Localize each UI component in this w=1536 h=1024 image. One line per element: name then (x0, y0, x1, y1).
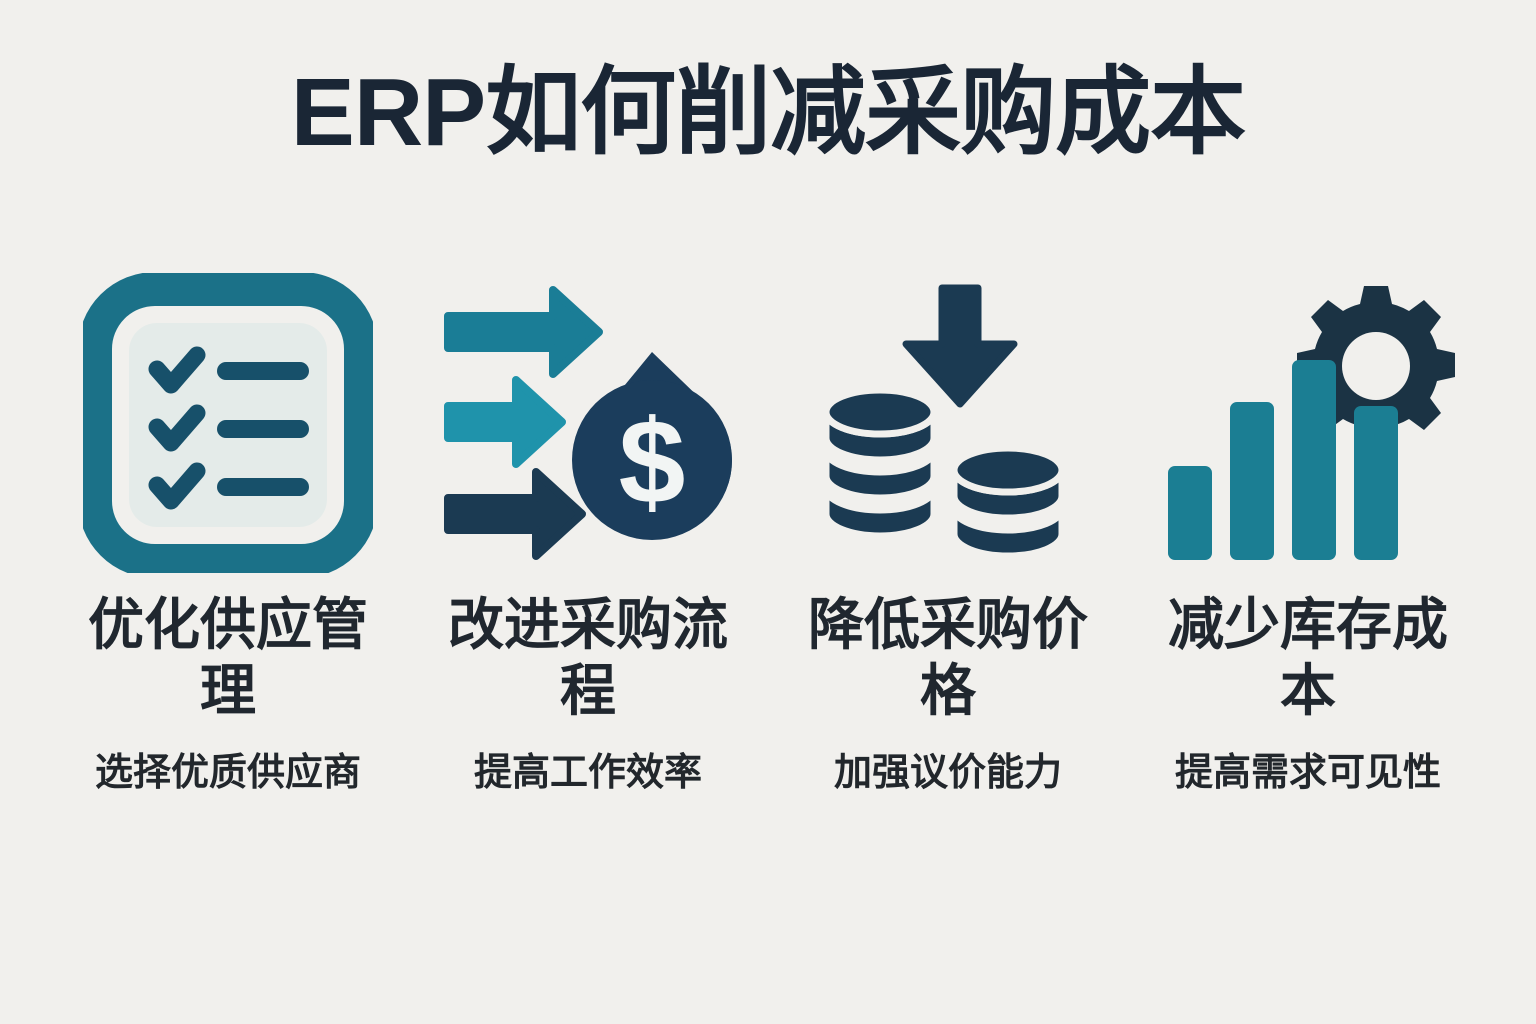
benefit-heading-2: 改进采购流程 (438, 592, 738, 724)
bar-chart-gear-icon (1143, 262, 1473, 584)
coins-down-arrow-icon-svg (808, 278, 1088, 568)
page-title: ERP如何削减采购成本 (0, 58, 1536, 168)
benefit-columns: 优化供应管理 选择优质供应商 $ 改进采购流程 提 (52, 262, 1484, 796)
coins-down-arrow-icon (783, 262, 1113, 584)
benefit-heading-3: 降低采购价格 (798, 592, 1098, 724)
benefit-subtitle-2: 提高工作效率 (474, 750, 702, 796)
infographic-page: ERP如何削减采购成本 优化供应管理 选择优质供应商 (0, 0, 1536, 1024)
benefit-heading-1: 优化供应管理 (78, 592, 378, 724)
bar-chart-gear-icon-svg (1158, 278, 1458, 568)
svg-text:$: $ (619, 395, 686, 529)
benefit-column-3: 降低采购价格 加强议价能力 (772, 262, 1124, 796)
checklist-icon-svg (83, 273, 373, 573)
benefit-subtitle-4: 提高需求可见性 (1175, 750, 1441, 796)
checklist-icon (63, 262, 393, 584)
benefit-column-1: 优化供应管理 选择优质供应商 (52, 262, 404, 796)
benefit-subtitle-3: 加强议价能力 (834, 750, 1062, 796)
arrows-to-money-icon-svg: $ (438, 278, 738, 568)
benefit-column-4: 减少库存成本 提高需求可见性 (1132, 262, 1484, 796)
benefit-heading-4: 减少库存成本 (1158, 592, 1458, 724)
arrows-to-money-icon: $ (423, 262, 753, 584)
benefit-subtitle-1: 选择优质供应商 (95, 750, 361, 796)
benefit-column-2: $ 改进采购流程 提高工作效率 (412, 262, 764, 796)
